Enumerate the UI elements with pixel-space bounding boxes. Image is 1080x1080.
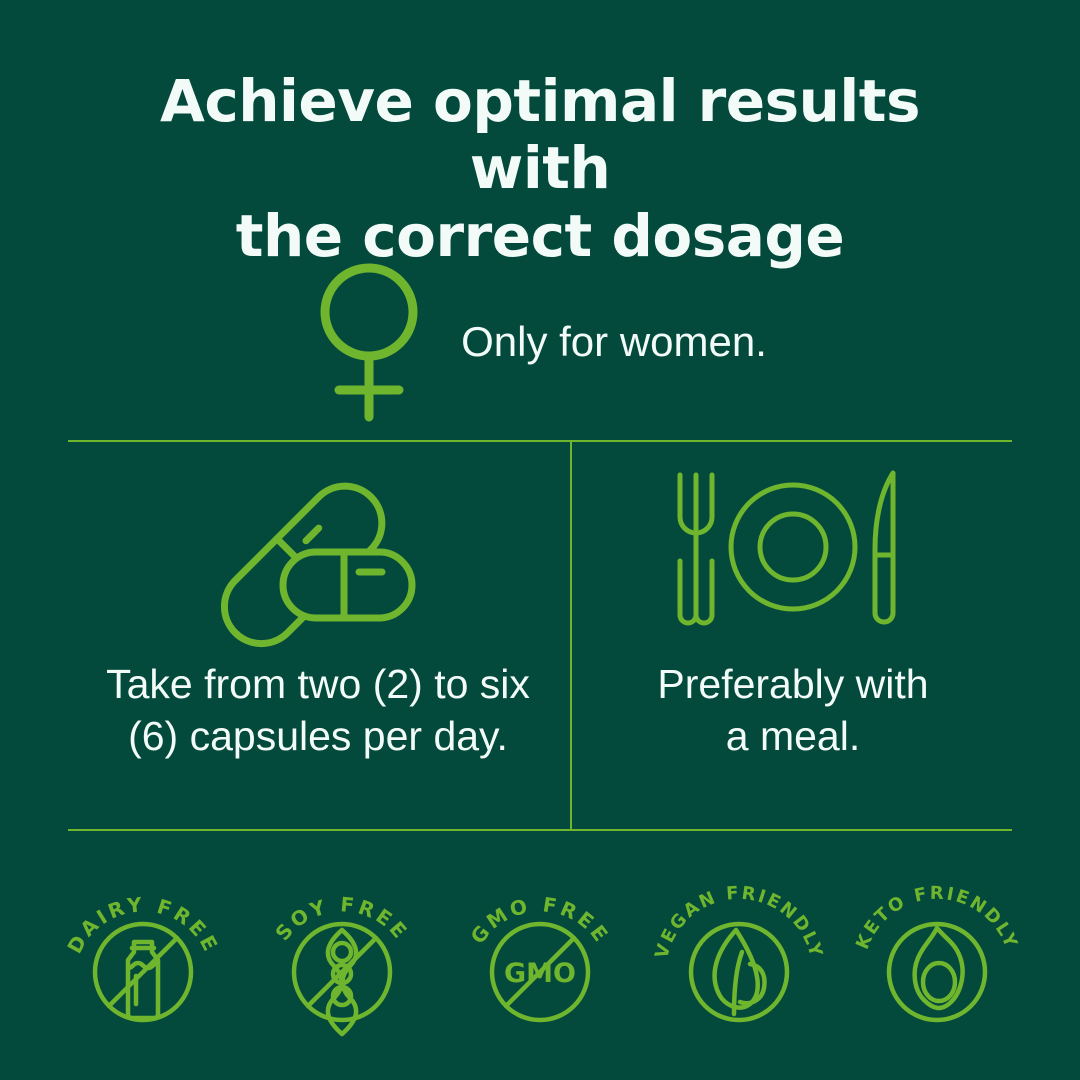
women-row: Only for women. — [0, 262, 1080, 422]
badge-vegan-friendly[interactable]: VEGAN FRIENDLY — [654, 872, 824, 1032]
dosage-caption: Take from two (2) to six (6) capsules pe… — [106, 659, 530, 762]
badge-keto-friendly[interactable]: KETO FRIENDLY — [852, 872, 1022, 1032]
women-caption: Only for women. — [461, 318, 767, 366]
divider-bottom — [68, 829, 1012, 831]
meal-cell: Preferably with a meal. — [574, 455, 1012, 815]
venus-symbol-icon — [313, 262, 425, 422]
svg-text:KETO FRIENDLY: KETO FRIENDLY — [852, 883, 1022, 953]
svg-text:SOY FREE: SOY FREE — [270, 892, 413, 945]
page-title: Achieve optimal results with the correct… — [90, 68, 990, 270]
dosage-caption-line-1: Take from two (2) to six — [106, 659, 530, 711]
dosage-cell: Take from two (2) to six (6) capsules pe… — [68, 455, 568, 815]
meal-caption: Preferably with a meal. — [657, 659, 928, 762]
badge-label-keto-friendly: KETO FRIENDLY — [852, 883, 1022, 953]
dosage-caption-line-2: (6) capsules per day. — [106, 711, 530, 763]
badge-soy-free[interactable]: SOY FREE — [257, 872, 427, 1032]
badge-dairy-free[interactable]: DAIRY FREE — [58, 872, 228, 1032]
divider-top — [68, 440, 1012, 442]
svg-text:GMO FREE: GMO FREE — [466, 892, 615, 948]
badge-inner-text-gmo: GMO — [504, 958, 576, 989]
badge-gmo-free[interactable]: GMO FREE GMO — [455, 872, 625, 1032]
meal-caption-line-1: Preferably with — [657, 659, 928, 711]
page-title-line-1: Achieve optimal results with — [90, 68, 990, 203]
badge-label-gmo-free: GMO FREE — [466, 892, 615, 948]
divider-vertical — [570, 441, 572, 830]
capsules-icon — [208, 455, 428, 645]
page-title-line-2: the correct dosage — [90, 203, 990, 270]
certification-badges: DAIRY FREE SOY FREE — [58, 872, 1022, 1032]
meal-caption-line-2: a meal. — [657, 711, 928, 763]
plate-fork-knife-icon — [668, 455, 918, 645]
dosage-infographic: Achieve optimal results with the correct… — [0, 0, 1080, 1080]
badge-label-soy-free: SOY FREE — [270, 892, 413, 945]
